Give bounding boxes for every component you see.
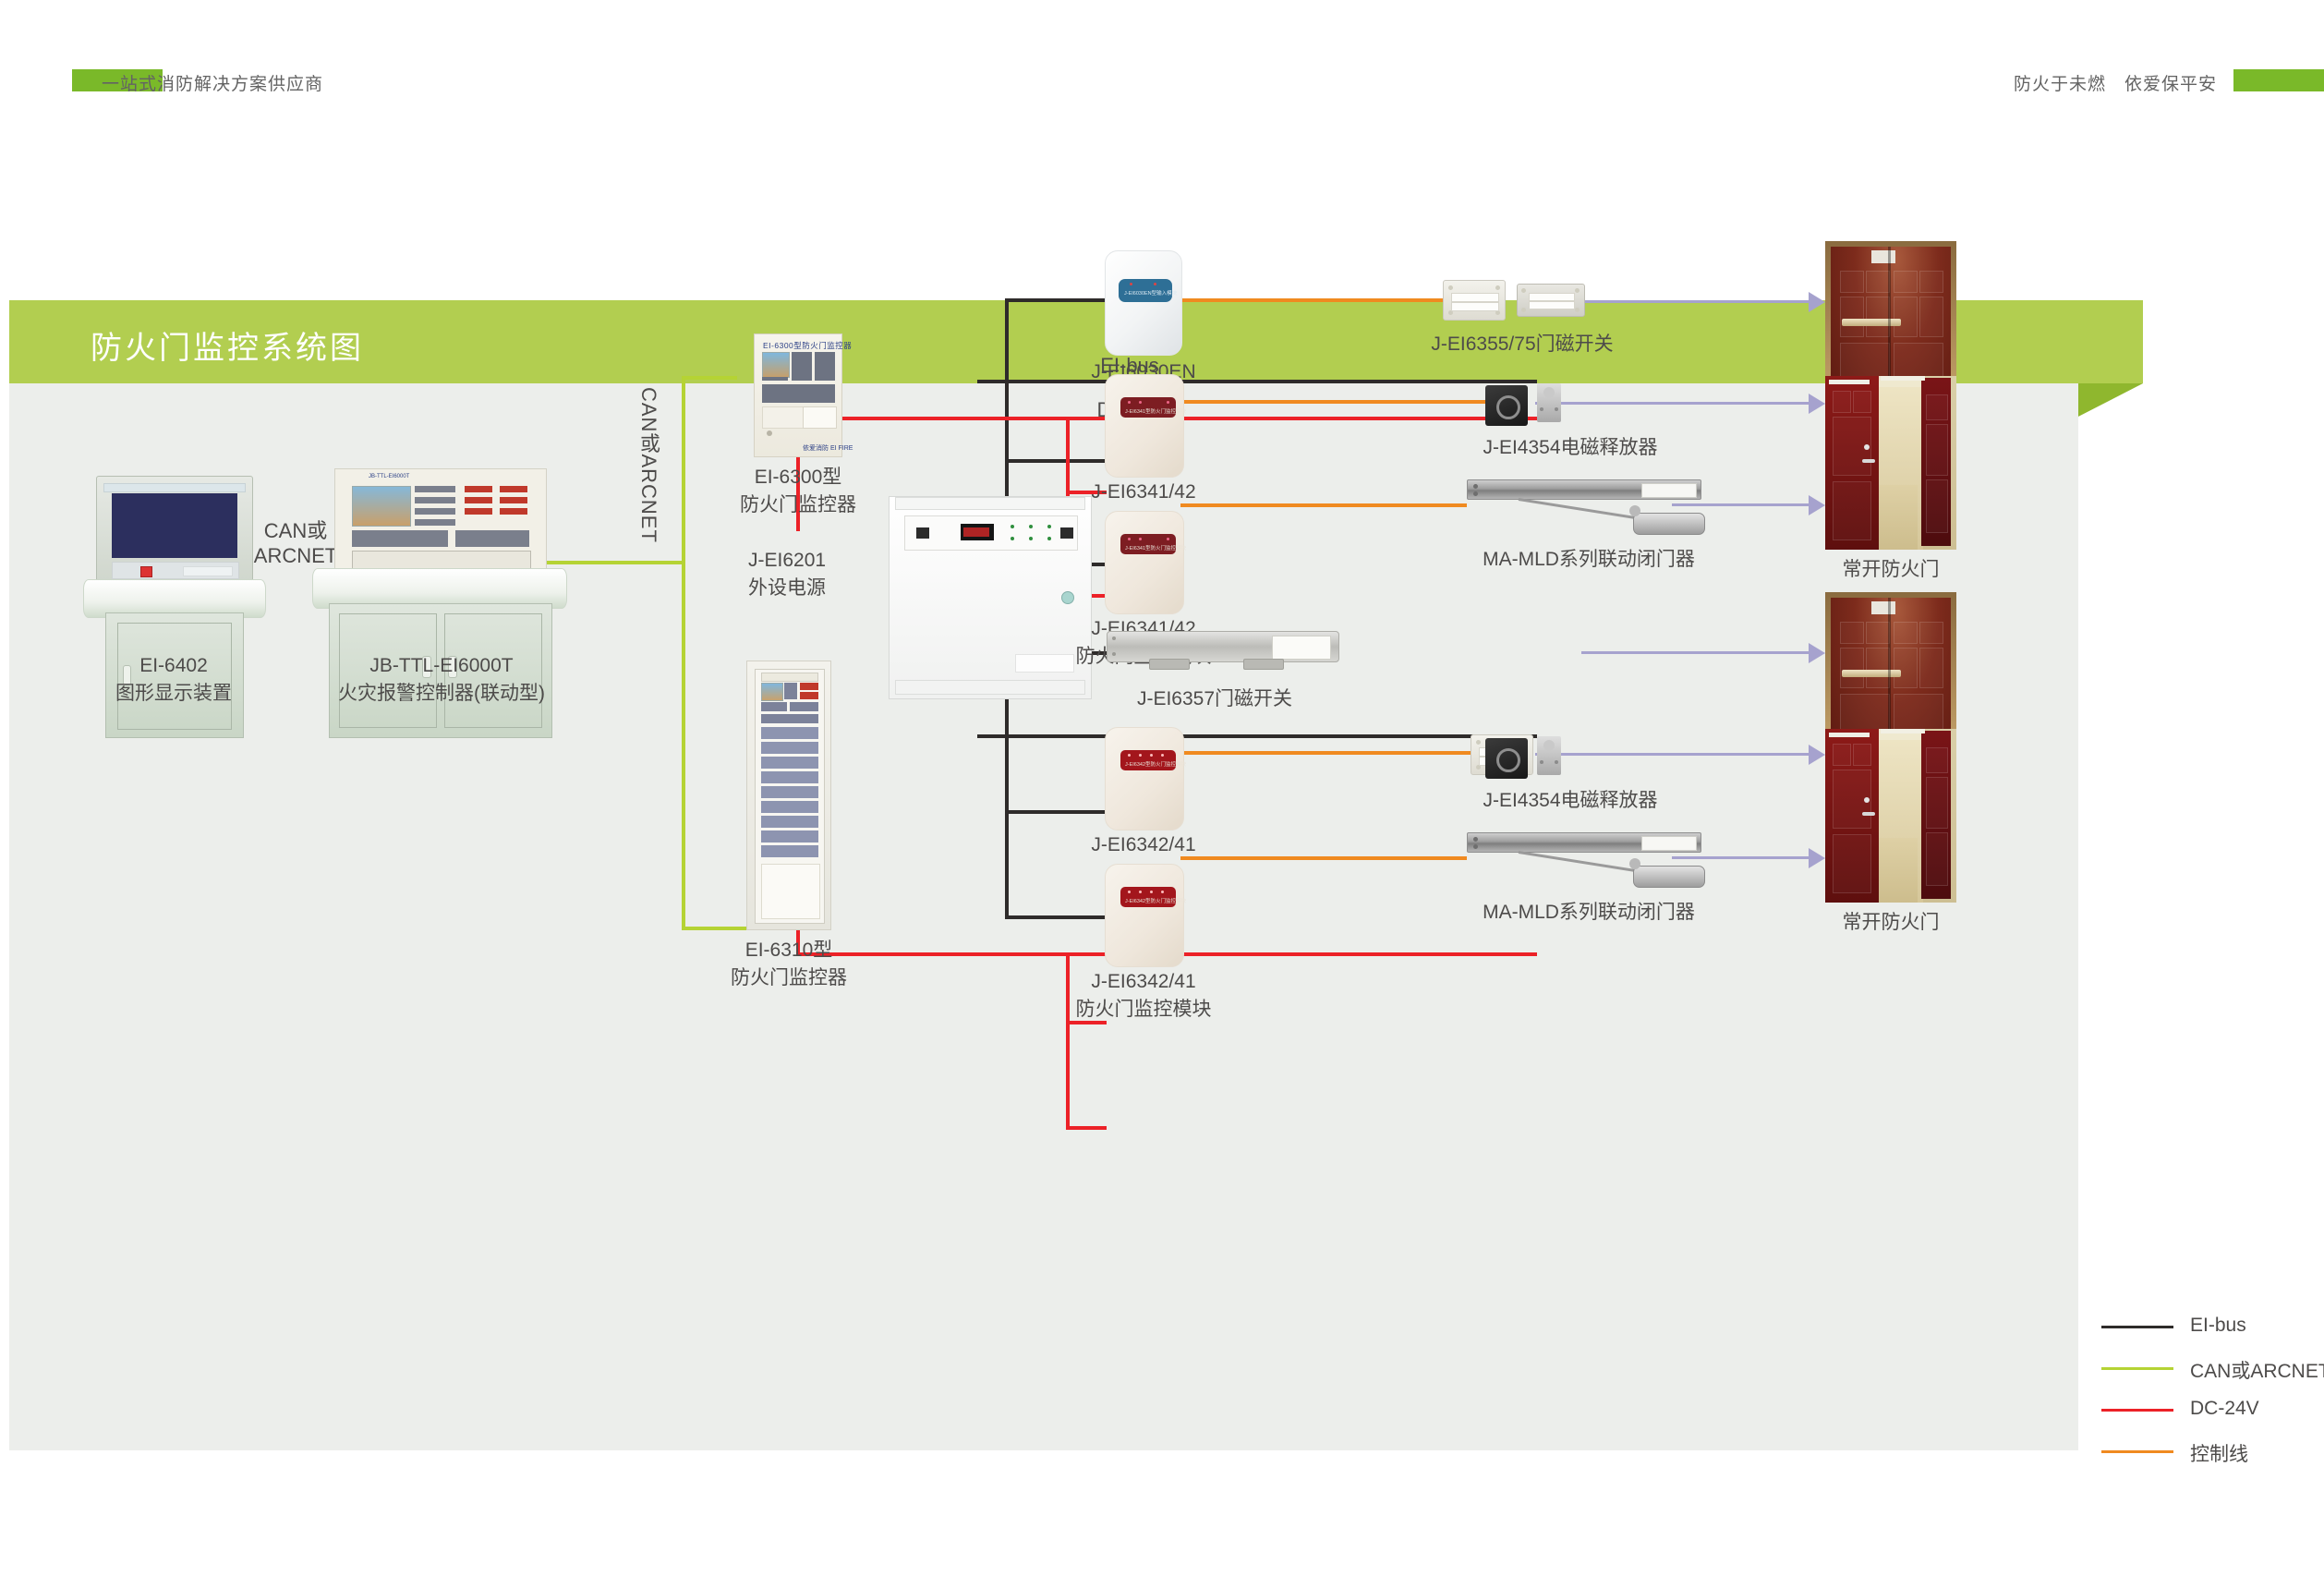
jei6030en-label-plate: J-EI6030EN型输入模块: [1119, 279, 1172, 302]
wire-eibus-to-6341a: [1005, 459, 1107, 463]
jei6342a-faceplate-text: J-EI6342型防火门监控模块: [1125, 760, 1186, 768]
legend-item: EI-bus: [2101, 1307, 2314, 1349]
wire-eibus-to-6030: [1005, 298, 1107, 302]
ei6402-monitor-frame: [96, 476, 253, 587]
arrow-door-no-top-b: [1809, 495, 1825, 515]
legend-swatch-dc24v: [2101, 1409, 2173, 1412]
device-jei6201-power-supply: [889, 496, 1092, 699]
wire-eibus-up-to-6030: [1005, 302, 1009, 383]
label-jei6341-a: J-EI6341/42: [1091, 479, 1195, 505]
device-jei6030en-module: J-EI6030EN型输入模块: [1105, 250, 1182, 356]
device-jei6342-module-b: J-EI6342型防火门监控模块: [1105, 864, 1184, 967]
label-ei6310-model: EI-6310型: [745, 938, 833, 964]
label-ei6310-desc: 防火门监控器: [731, 965, 847, 991]
wire-door-link-nc-bot: [1581, 651, 1812, 654]
device-ei6310-monitor: [746, 661, 831, 930]
label-ei6300-model: EI-6300型: [755, 465, 842, 491]
jei6341a-label-plate: J-EI6341型防火门监控模块: [1120, 397, 1176, 418]
legend-label-dc24v: DC-24V: [2190, 1398, 2259, 1420]
device-ma-mld-closer-bottom: [1467, 832, 1707, 891]
label-facp-desc: 火灾报警控制器(联动型): [338, 681, 545, 707]
wire-eibus-top-trunk: [977, 380, 1537, 383]
legend-item: DC-24V: [2101, 1390, 2314, 1432]
device-ei6300-monitor: EI-6300型防火门监控器 依爱消防 EI FIRE: [754, 333, 842, 457]
wire-eibus-bottom-trunk: [977, 734, 1537, 738]
jei6341b-faceplate-text: J-EI6341型防火门监控模块: [1125, 544, 1186, 552]
page-header: 一站式消防解决方案供应商 防火于未燃 依爱保平安: [0, 0, 2324, 129]
wire-eibus-bottom-down: [1005, 734, 1009, 919]
label-jei6342-b-desc: 防火门监控模块: [1076, 997, 1212, 1023]
wire-can-arcnet-to-6310: [682, 927, 746, 930]
label-can-arcnet-vertical: CAN或ARCNET: [634, 387, 663, 543]
jei6341a-faceplate-text: J-EI6341型防火门监控模块: [1125, 407, 1186, 415]
wire-can-arcnet-v-up: [682, 376, 685, 564]
label-jei6357: J-EI6357门磁开关: [1137, 686, 1292, 712]
header-right-tagline: 防火于未燃 依爱保平安: [2014, 70, 2217, 95]
legend-item: 控制线: [2101, 1432, 2314, 1473]
arrow-door-no-bot-a: [1809, 745, 1825, 765]
arrow-door-nc-bot: [1809, 643, 1825, 663]
legend-swatch-eibus: [2101, 1326, 2173, 1328]
label-door-no-bottom: 常开防火门: [1843, 910, 1940, 936]
banner-fold-corner: [2075, 383, 2143, 418]
facp-lcd: [352, 486, 411, 527]
jei6030en-faceplate-text: J-EI6030EN型输入模块: [1124, 289, 1177, 297]
header-right-accent-bar: [2233, 69, 2324, 91]
ei6402-button-strip: [112, 562, 239, 579]
legend-label-control: 控制线: [2190, 1439, 2248, 1467]
ei6402-screen: [112, 493, 237, 558]
label-ei6402-desc: 图形显示装置: [115, 681, 232, 707]
legend-label-eibus: EI-bus: [2190, 1315, 2246, 1337]
device-jei6341-module-b: J-EI6341型防火门监控模块: [1105, 511, 1184, 614]
system-diagram-canvas: EI-bus DC24V CAN或ARCNET CAN或 ARCNET EI-6…: [9, 383, 2078, 1450]
image-door-normally-open-bottom: [1825, 729, 1956, 903]
label-ei6300-desc: 防火门监控器: [740, 492, 856, 518]
jei6342a-label-plate: J-EI6342型防火门监控模块: [1120, 750, 1176, 770]
jei6341b-label-plate: J-EI6341型防火门监控模块: [1120, 534, 1176, 554]
label-door-no-top: 常开防火门: [1843, 557, 1940, 583]
legend-label-can: CAN或ARCNET: [2190, 1356, 2324, 1384]
wire-can-arcnet-to-6300: [682, 376, 737, 380]
jei6342b-faceplate-text: J-EI6342型防火门监控模块: [1125, 897, 1186, 904]
diagram-legend: EI-bus CAN或ARCNET DC-24V 控制线: [2101, 1307, 2314, 1473]
label-ma-mld-top: MA-MLD系列联动闭门器: [1483, 547, 1695, 573]
label-jei6342-b-model: J-EI6342/41: [1091, 969, 1195, 995]
ei6300-faceplate-title: EI-6300型防火门监控器: [763, 340, 852, 351]
arrow-door-no-top-a: [1809, 394, 1825, 414]
wire-dc24v-bottom-vert2: [1066, 952, 1070, 1130]
label-facp-model: JB-TTL-EI6000T: [369, 653, 513, 679]
ei6300-brand-logo: 依爱消防 EI FIRE: [803, 443, 853, 453]
image-door-normally-open-top: [1825, 376, 1956, 550]
facp-faceplate-title: JB-TTL-EI6000T: [369, 474, 409, 479]
device-jei6342-module-a: J-EI6342型防火门监控模块: [1105, 727, 1184, 830]
wire-door-link-nc-top: [1581, 300, 1812, 303]
label-psu-desc: 外设电源: [748, 576, 826, 601]
wire-control-6030-to-mag6355: [1179, 298, 1446, 302]
legend-swatch-can: [2101, 1367, 2173, 1370]
arrow-door-no-bot-b: [1809, 848, 1825, 868]
label-psu-model: J-EI6201: [748, 548, 826, 574]
label-jei6355-door-magnet: J-EI6355/75门磁开关: [1431, 332, 1613, 358]
device-jei4354-releaser-bottom: [1485, 734, 1602, 784]
wire-control-6342b-out: [1180, 856, 1467, 860]
label-jei4354-bottom: J-EI4354电磁释放器: [1483, 788, 1657, 814]
header-left-tagline: 一站式消防解决方案供应商: [102, 70, 323, 95]
arrow-door-nc-top: [1809, 292, 1825, 312]
device-ma-mld-closer-top: [1467, 479, 1707, 539]
psu-indicator-strip: [904, 515, 1078, 551]
jei6342b-label-plate: J-EI6342型防火门监控模块: [1120, 887, 1176, 907]
wire-dc24v-to-6342b: [1066, 1126, 1107, 1130]
legend-swatch-control: [2101, 1450, 2173, 1453]
label-ma-mld-bottom: MA-MLD系列联动闭门器: [1483, 900, 1695, 926]
wire-control-6342a-out: [1180, 751, 1485, 755]
wire-eibus-to-6342b: [1005, 915, 1107, 919]
facp-faceplate: JB-TTL-EI6000T: [334, 468, 547, 574]
device-jei6341-module-a: J-EI6341型防火门监控模块: [1105, 374, 1184, 478]
page-title: 防火门监控系统图: [91, 322, 364, 368]
psu-digital-display: [961, 524, 994, 540]
device-jei6357-door-magnet: [1107, 631, 1347, 679]
wire-control-6341b-out: [1180, 503, 1467, 507]
wire-control-6341a-out: [1180, 400, 1485, 404]
label-jei4354-top: J-EI4354电磁释放器: [1483, 435, 1657, 461]
legend-item: CAN或ARCNET: [2101, 1349, 2314, 1390]
label-jei6342-a: J-EI6342/41: [1091, 832, 1195, 858]
device-jei6355-door-magnet-switch: [1443, 276, 1602, 322]
wire-eibus-to-6342a: [1005, 810, 1107, 814]
device-jei4354-releaser-top: [1485, 382, 1602, 431]
label-ei6402-model: EI-6402: [139, 653, 208, 679]
wire-can-arcnet-v: [682, 561, 685, 930]
